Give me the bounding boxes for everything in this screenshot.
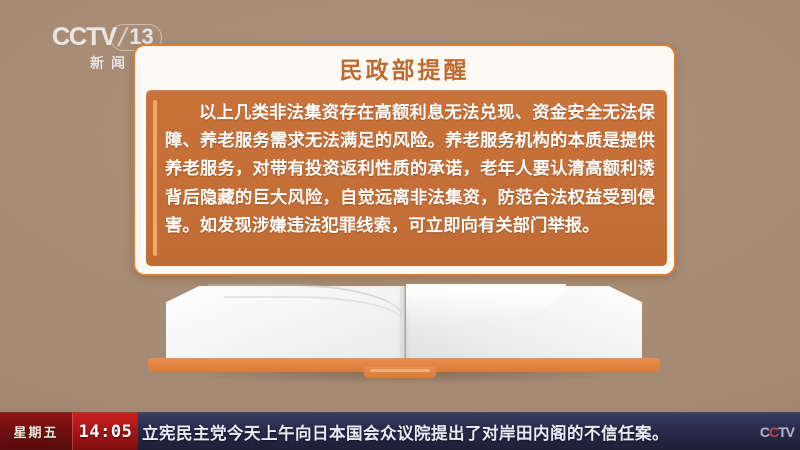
ticker-clock-block: 14:05 xyxy=(72,412,138,450)
ticker-cctv-watermark: CCTV xyxy=(760,424,794,440)
ticker-logo-suffix: TV xyxy=(778,424,794,440)
ticker-clock-label: 14:05 xyxy=(79,422,133,442)
ticker-headline-feed: 立宪民主党今天上午向日本国会众议院提出了对岸田内阁的不信任案。 CCTV xyxy=(138,412,800,450)
panel-left-accent-bar xyxy=(153,100,157,256)
tv-broadcast-frame: CCTV / 13 新闻 民政部提醒 以上几类非法集资存在高额利息无法兑现、资金… xyxy=(0,0,800,450)
ticker-headline-text: 立宪民主党今天上午向日本国会众议院提出了对岸田内阁的不信任案。 xyxy=(138,420,669,444)
ticker-weekday-block: 星期五 xyxy=(0,412,72,450)
book-clasp xyxy=(364,367,436,378)
page-title: 民政部提醒 xyxy=(340,51,470,85)
card-title-bar: 民政部提醒 xyxy=(135,46,674,90)
advisory-panel: 以上几类非法集资存在高额利息无法兑现、资金安全无法保障、养老服务需求无法满足的风… xyxy=(146,90,667,266)
news-ticker-bar: 星期五 14:05 立宪民主党今天上午向日本国会众议院提出了对岸田内阁的不信任案… xyxy=(0,412,800,450)
ticker-weekday-label: 星期五 xyxy=(13,422,58,441)
open-book-illustration xyxy=(148,268,660,380)
book-gutter xyxy=(400,286,406,360)
ticker-logo-prefix: C xyxy=(760,424,769,440)
advisory-body-text: 以上几类非法集资存在高额利息无法兑现、资金安全无法保障、养老服务需求无法满足的风… xyxy=(165,99,655,240)
info-card: 民政部提醒 以上几类非法集资存在高额利息无法兑现、资金安全无法保障、养老服务需求… xyxy=(133,44,676,276)
ticker-logo-accent: C xyxy=(769,424,778,440)
cctv-wordmark: CCTV xyxy=(52,23,116,52)
